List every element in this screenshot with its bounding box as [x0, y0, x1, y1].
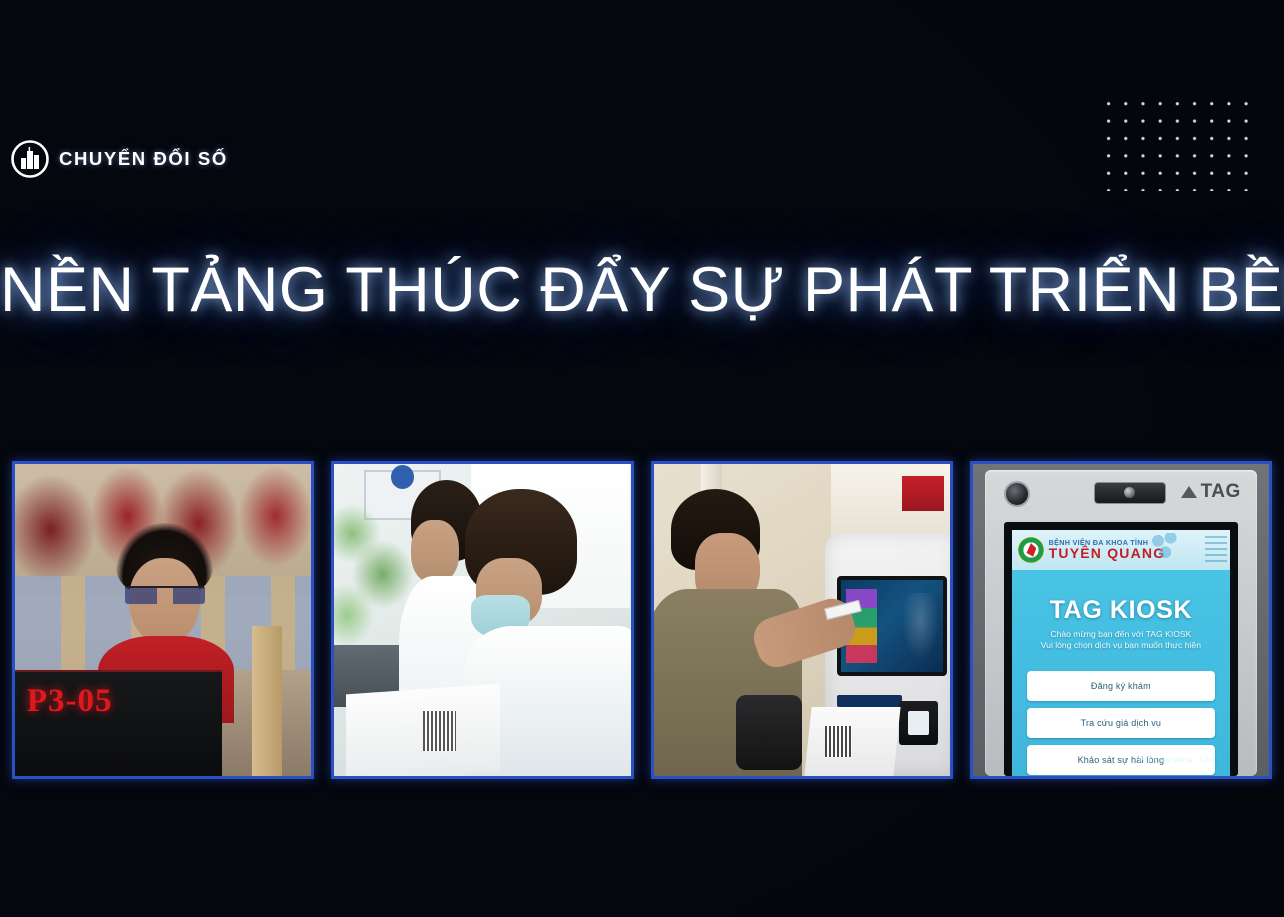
- brand-name: CHUYỂN ĐỔI SỐ: [59, 148, 228, 170]
- tag-triangle-icon: [1181, 486, 1197, 498]
- hospital-name-block: BỆNH VIỆN ĐA KHOA TỈNH TUYÊN QUANG: [1049, 539, 1166, 561]
- printed-slip-qr: [825, 726, 852, 757]
- kiosk-button-register[interactable]: Đăng ký khám: [1027, 671, 1215, 701]
- photo-kiosk-user-image: [654, 464, 950, 776]
- kiosk-print-slot: [837, 695, 902, 707]
- desk-divider: [252, 626, 282, 776]
- photo-hospital-staff: [331, 461, 633, 779]
- kiosk-title: TAG KIOSK: [1012, 596, 1230, 625]
- photo-tag-kiosk-image: TAG BỆNH VIỆN ĐA KHOA TỈNH TUYÊN QUANG: [973, 464, 1269, 776]
- kiosk-ui-header: BỆNH VIỆN ĐA KHOA TỈNH TUYÊN QUANG: [1012, 530, 1230, 569]
- photo-exam-hall: P3-05: [12, 461, 314, 779]
- photo-kiosk-user: [651, 461, 953, 779]
- background-vignette: [0, 0, 1284, 917]
- kiosk-welcome: Chào mừng bạn đến với TAG KIOSK Vui lòng…: [1012, 629, 1230, 652]
- photo-tag-kiosk: TAG BỆNH VIỆN ĐA KHOA TỈNH TUYÊN QUANG: [970, 461, 1272, 779]
- page-title: NỀN TẢNG THÚC ĐẨY SỰ PHÁT TRIỂN BỀN VỮNG: [0, 254, 1284, 326]
- hospital-name: TUYÊN QUANG: [1049, 546, 1166, 561]
- kiosk-welcome-line2: Vui lòng chọn dịch vụ bạn muốn thực hiện: [1012, 640, 1230, 652]
- photo-exam-hall-image: P3-05: [15, 464, 311, 776]
- kiosk-card-reader: [899, 701, 938, 745]
- kiosk-button-price-lookup[interactable]: Tra cứu giá dịch vụ: [1027, 708, 1215, 738]
- city-buildings-circle-icon: [10, 139, 50, 179]
- photo-hospital-staff-image: [334, 464, 630, 776]
- bars-decor-icon: [1205, 534, 1227, 562]
- printed-slip: [804, 707, 900, 776]
- fingerprint-sensor-icon: [1004, 481, 1030, 507]
- kiosk-ui: BỆNH VIỆN ĐA KHOA TỈNH TUYÊN QUANG TAG K…: [1012, 530, 1230, 776]
- student-glasses: [125, 586, 205, 605]
- camera-module-icon: [1094, 482, 1166, 504]
- kiosk-welcome-line1: Chào mừng bạn đến với TAG KIOSK: [1012, 629, 1230, 641]
- photo-strip: P3-05: [12, 461, 1272, 779]
- kiosk-version-label: Phiên bản hiện tại : 1.0.0: [1139, 757, 1215, 764]
- kiosk-display: BỆNH VIỆN ĐA KHOA TỈNH TUYÊN QUANG TAG K…: [1004, 522, 1238, 776]
- hexagon-decor-icon: [1152, 533, 1182, 559]
- slide-canvas: CHUYỂN ĐỔI SỐ NỀN TẢNG THÚC ĐẨY SỰ PHÁT …: [0, 0, 1284, 917]
- seat-code-label: P3-05: [27, 683, 113, 720]
- red-wall-sign: [902, 476, 943, 510]
- tag-brand-text: TAG: [1201, 481, 1241, 503]
- staff1-face: [411, 520, 458, 582]
- document-qr-code: [423, 711, 456, 752]
- hospital-logo-icon: [1018, 537, 1044, 563]
- dot-grid-pattern: [1100, 95, 1255, 191]
- kiosk-bezel-top: TAG: [985, 470, 1258, 519]
- tag-brand-logo: TAG: [1181, 481, 1241, 503]
- kiosk-device-bezel: TAG BỆNH VIỆN ĐA KHOA TỈNH TUYÊN QUANG: [985, 470, 1258, 776]
- brand-logo: CHUYỂN ĐỔI SỐ: [10, 139, 228, 179]
- visitor-bag: [736, 695, 801, 770]
